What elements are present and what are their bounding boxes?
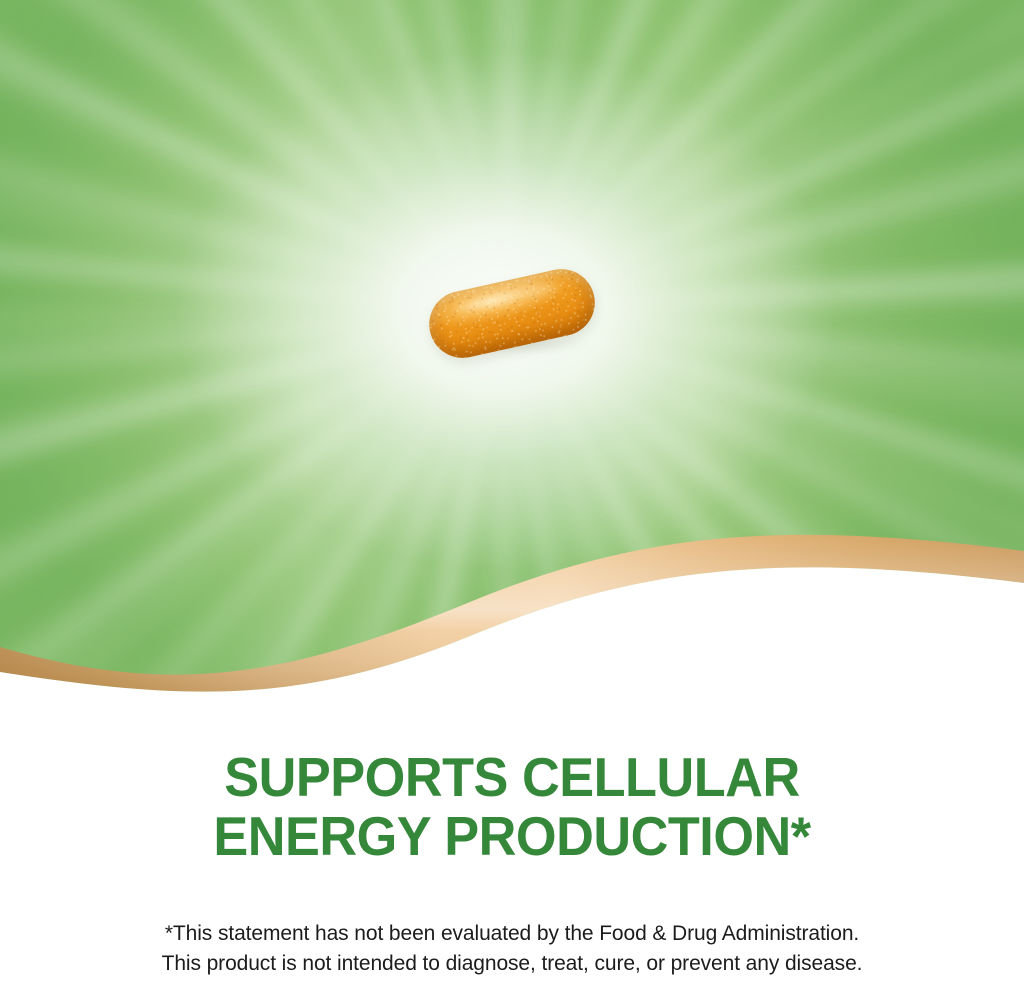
claim-content-area: SUPPORTS CELLULAR ENERGY PRODUCTION* *Th… <box>0 700 1024 991</box>
fda-disclaimer-line-2: This product is not intended to diagnose… <box>0 949 1024 979</box>
sunburst-hero-panel <box>0 0 1024 700</box>
claim-headline-line-2: ENERGY PRODUCTION* <box>26 807 999 866</box>
capsule-pill-image <box>428 262 596 360</box>
fda-disclaimer-line-1: *This statement has not been evaluated b… <box>0 919 1024 949</box>
fda-disclaimer: *This statement has not been evaluated b… <box>0 919 1024 979</box>
product-claim-panel: SUPPORTS CELLULAR ENERGY PRODUCTION* *Th… <box>0 0 1024 991</box>
hero-clip <box>0 0 1024 700</box>
claim-headline-line-1: SUPPORTS CELLULAR <box>26 748 999 807</box>
claim-headline: SUPPORTS CELLULAR ENERGY PRODUCTION* <box>0 748 1024 866</box>
